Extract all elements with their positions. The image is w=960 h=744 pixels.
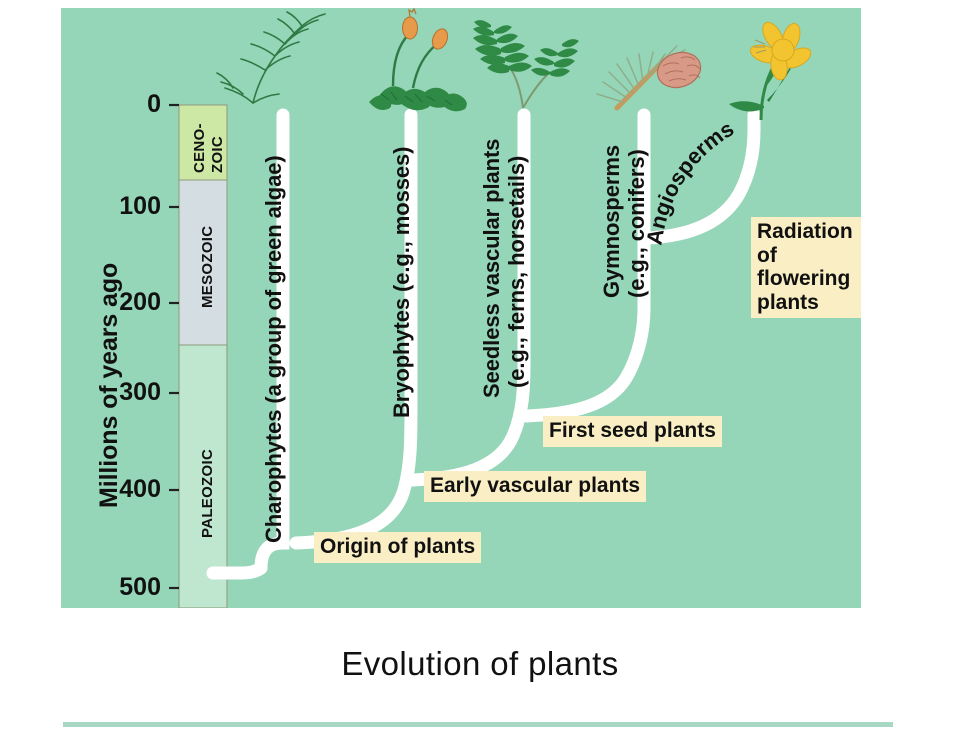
branch-label-seedless-vascular-line2: (e.g., ferns, horsetails): [504, 156, 530, 388]
fern-frond-icon: [473, 20, 579, 108]
branch-label-gymnosperms-line2: (e.g., conifers): [624, 149, 650, 298]
branch-label-gymnosperms-line1: Gymnosperms: [599, 145, 625, 298]
phylogenetic-tree-svg: [61, 8, 861, 608]
axis-tick-200: 200: [81, 288, 161, 317]
era-label-mesozoic: MESOZOIC: [199, 226, 216, 308]
axis-tick-100: 100: [81, 192, 161, 221]
branch-label-charophytes: Charophytes (a group of green algae): [261, 155, 287, 543]
moss-plant-icon: [369, 9, 467, 111]
axis-tick-0: 0: [81, 90, 161, 119]
callout-radiation-line2: flowering: [757, 267, 861, 291]
callout-early-vascular-plants: Early vascular plants: [424, 471, 646, 502]
pine-cone-branch-icon: [597, 46, 705, 108]
axis-ticks: [169, 105, 179, 588]
callout-radiation-line1: Radiation of: [757, 220, 861, 267]
bottom-divider: [63, 722, 893, 727]
axis-tick-400: 400: [81, 475, 161, 504]
era-label-cenozoic-line1: CENO-: [191, 123, 208, 173]
callout-radiation-line3: plants: [757, 291, 861, 315]
callout-first-seed-plants: First seed plants: [543, 416, 722, 447]
branch-label-bryophytes: Bryophytes (e.g., mosses): [389, 147, 415, 418]
branch-angiosperms: [647, 115, 754, 238]
era-label-cenozoic-line2: ZOIC: [209, 136, 226, 173]
charophyte-alga-icon: [217, 12, 325, 103]
evolution-of-plants-figure: Millions of years ago 0 100 200 300 400 …: [61, 8, 861, 608]
root-stub: [213, 568, 261, 573]
axis-tick-300: 300: [81, 378, 161, 407]
branch-label-seedless-vascular-line1: Seedless vascular plants: [479, 139, 505, 398]
yellow-flower-icon: [729, 19, 814, 120]
callout-origin-of-plants: Origin of plants: [314, 532, 481, 563]
era-label-paleozoic: PALEOZOIC: [199, 449, 216, 538]
figure-caption: Evolution of plants: [0, 645, 960, 683]
axis-tick-500: 500: [81, 573, 161, 602]
callout-radiation-of-flowering-plants: Radiation of flowering plants: [751, 217, 861, 318]
